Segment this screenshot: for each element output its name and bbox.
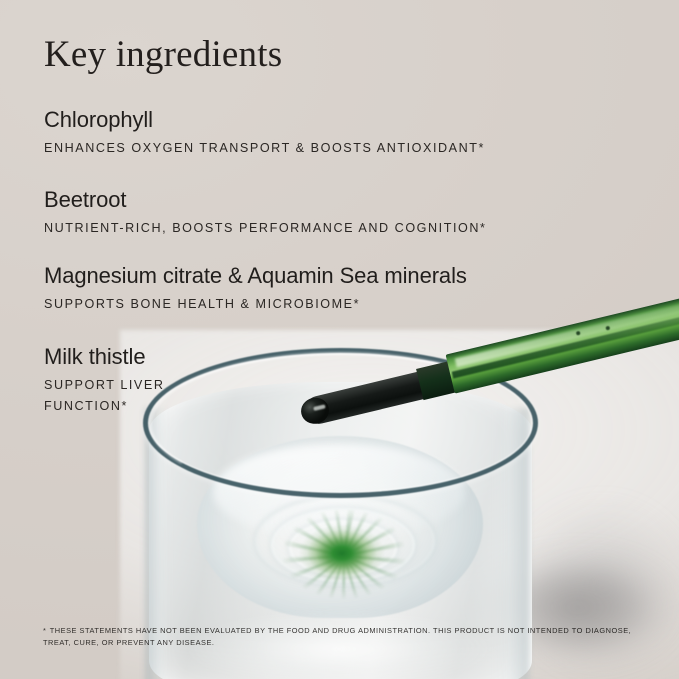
ingredient-name: Milk thistle <box>44 345 164 370</box>
ingredient-name: Chlorophyll <box>44 108 485 133</box>
ingredient-description: Supports bone health & microbiome* <box>44 294 467 316</box>
ingredient-name: Magnesium citrate & Aquamin Sea minerals <box>44 264 467 289</box>
ingredient-description: Enhances oxygen transport & boosts antio… <box>44 138 485 160</box>
ingredient-item-chlorophyll: Chlorophyll Enhances oxygen transport & … <box>44 108 485 159</box>
ingredient-description: Support liver function* <box>44 375 164 418</box>
fda-disclaimer: * These statements have not been evaluat… <box>43 625 643 649</box>
page-title: Key ingredients <box>44 36 282 73</box>
disclaimer-text: These statements have not been evaluated… <box>43 626 631 647</box>
ingredient-description: Nutrient-rich, boosts performance and co… <box>44 218 486 240</box>
ingredient-item-beetroot: Beetroot Nutrient-rich, boosts performan… <box>44 188 486 239</box>
ingredient-item-milk-thistle: Milk thistle Support liver function* <box>44 345 164 418</box>
ingredient-item-magnesium-citrate-aquamin: Magnesium citrate & Aquamin Sea minerals… <box>44 264 467 315</box>
text-overlay: Key ingredients Chlorophyll Enhances oxy… <box>0 0 679 679</box>
ingredient-name: Beetroot <box>44 188 486 213</box>
disclaimer-marker: * <box>43 626 47 635</box>
ingredients-infographic: Key ingredients Chlorophyll Enhances oxy… <box>0 0 679 679</box>
